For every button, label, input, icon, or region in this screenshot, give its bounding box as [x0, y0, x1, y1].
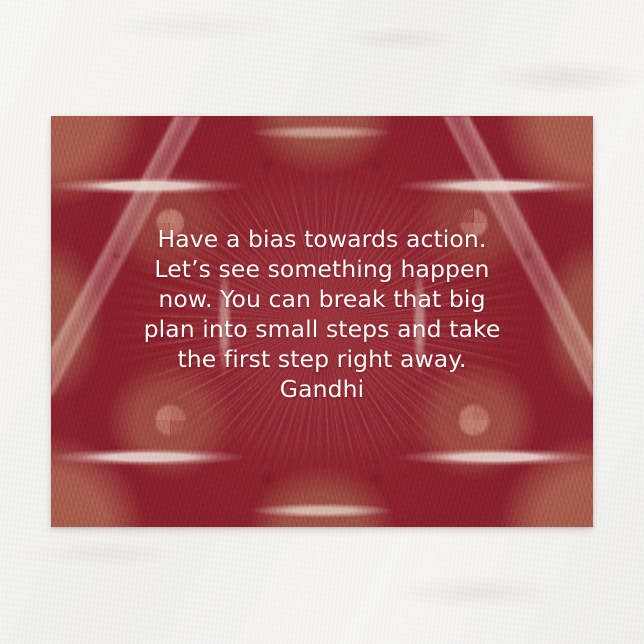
postcard[interactable]: Have a bias towards action. Let’s see so… [51, 116, 593, 527]
quote-line-1: Have a bias towards action. [65, 224, 579, 254]
quote-attribution: Gandhi [65, 374, 579, 404]
screenshot-stage: Have a bias towards action. Let’s see so… [0, 0, 644, 644]
quote-text-block: Have a bias towards action. Let’s see so… [51, 224, 593, 404]
quote-line-5: the first step right away. [65, 344, 579, 374]
quote-line-4: plan into small steps and take [65, 314, 579, 344]
quote-line-2: Let’s see something happen [65, 254, 579, 284]
quote-line-3: now. You can break that big [65, 284, 579, 314]
